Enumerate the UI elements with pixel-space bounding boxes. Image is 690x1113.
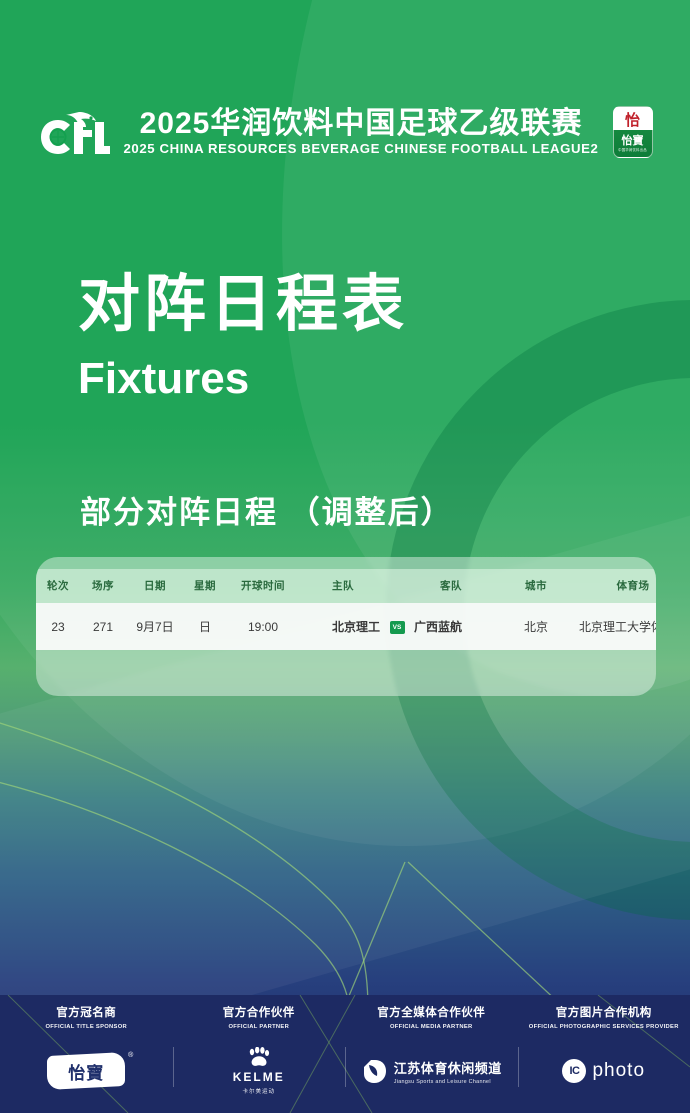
- cell-round: 23: [36, 603, 80, 650]
- column-header-weekday: 星期: [184, 569, 226, 603]
- yibao-badge-mark: 怡: [614, 107, 652, 131]
- paw-print-icon: [246, 1047, 272, 1067]
- jiangsu-mark-icon: [361, 1058, 387, 1084]
- sponsor-label-en: OFFICIAL MEDIA PARTNER: [390, 1024, 473, 1030]
- column-header-home: 主队: [300, 569, 386, 603]
- page-title-en: Fixtures: [78, 355, 638, 403]
- cell-away-team: 广西蓝航: [408, 603, 494, 650]
- ic-photo-logo-text: photo: [592, 1060, 645, 1082]
- page-title-cn: 对阵日程表: [78, 272, 638, 337]
- sponsor-footer: 官方冠名商 OFFICIAL TITLE SPONSOR 怡寶 ® 官方合作伙伴…: [0, 995, 690, 1113]
- cell-city: 北京: [494, 603, 578, 650]
- column-header-kickoff: 开球时间: [226, 569, 300, 603]
- kelme-logo-icon: KELME 卡尔美运动: [233, 1047, 285, 1095]
- cell-vs: VS: [386, 603, 408, 650]
- yibao-badge-icon: 怡 怡寶 中国华润饮料出品: [613, 106, 653, 158]
- hero-block: 对阵日程表 Fixtures: [78, 272, 638, 403]
- column-header-away: 客队: [408, 569, 494, 603]
- vs-badge-icon: VS: [390, 621, 405, 634]
- league-header: 2025华润饮料中国足球乙级联赛 2025 CHINA RESOURCES BE…: [0, 96, 690, 168]
- column-header-venue: 体育场: [578, 569, 656, 603]
- column-header-city: 城市: [494, 569, 578, 603]
- cell-date: 9月7日: [126, 603, 184, 650]
- kelme-logo-text: KELME: [233, 1070, 285, 1084]
- fixtures-poster: 2025华润饮料中国足球乙级联赛 2025 CHINA RESOURCES BE…: [0, 0, 690, 1113]
- yibao-badge-sub: 中国华润饮料出品: [618, 149, 647, 152]
- fixtures-card: 轮次 场序 日期 星期 开球时间 主队 客队 城市 体育场 23: [36, 557, 656, 696]
- table-row[interactable]: 23 271 9月7日 日 19:00 北京理工 VS 广西蓝航 北京 北京理工…: [36, 603, 656, 650]
- yibao-badge-name: 怡寶: [622, 136, 644, 147]
- jiangsu-logo-icon: 江苏体育休闲频道 Jiangsu Sports and Leisure Chan…: [361, 1058, 502, 1085]
- sponsor-media-partner: 官方全媒体合作伙伴 OFFICIAL MEDIA PARTNER 江苏体育休闲频…: [345, 995, 518, 1113]
- sponsor-label-cn: 官方冠名商: [56, 1007, 116, 1021]
- column-header-spacer: [386, 569, 408, 603]
- league-title-cn: 2025华润饮料中国足球乙级联赛: [140, 109, 583, 139]
- sponsor-label-cn: 官方合作伙伴: [223, 1007, 295, 1021]
- kelme-logo-sub: 卡尔美运动: [242, 1087, 275, 1095]
- yibao-logo-icon: 怡寶 ®: [47, 1054, 125, 1088]
- sponsor-photo-provider: 官方图片合作机构 OFFICIAL PHOTOGRAPHIC SERVICES …: [518, 995, 690, 1113]
- yibao-registered-mark: ®: [128, 1052, 133, 1059]
- cell-seq: 271: [80, 603, 126, 650]
- cell-venue: 北京理工大学体育场: [578, 603, 656, 650]
- sponsor-label-cn: 官方全媒体合作伙伴: [377, 1007, 485, 1021]
- table-header-row: 轮次 场序 日期 星期 开球时间 主队 客队 城市 体育场: [36, 569, 656, 603]
- fixtures-table: 轮次 场序 日期 星期 开球时间 主队 客队 城市 体育场 23: [36, 569, 656, 650]
- sponsor-label-en: OFFICIAL TITLE SPONSOR: [45, 1024, 127, 1030]
- cell-kickoff: 19:00: [226, 603, 300, 650]
- jiangsu-logo-text: 江苏体育休闲频道: [394, 1058, 502, 1077]
- cfl-logo-icon: [38, 106, 110, 158]
- yibao-logo-text: 怡寶: [68, 1059, 104, 1084]
- column-header-round: 轮次: [36, 569, 80, 603]
- sponsor-title-sponsor: 官方冠名商 OFFICIAL TITLE SPONSOR 怡寶 ®: [0, 995, 173, 1113]
- ic-photo-logo-icon: IC photo: [562, 1059, 645, 1083]
- league-title-block: 2025华润饮料中国足球乙级联赛 2025 CHINA RESOURCES BE…: [124, 109, 599, 155]
- cell-home-team: 北京理工: [300, 603, 386, 650]
- jiangsu-logo-sub: Jiangsu Sports and Leisure Channel: [394, 1079, 502, 1085]
- sponsor-label-cn: 官方图片合作机构: [556, 1007, 652, 1021]
- sponsor-official-partner: 官方合作伙伴 OFFICIAL PARTNER KELME 卡尔美运动: [173, 995, 346, 1113]
- ic-mark: IC: [562, 1059, 586, 1083]
- cell-weekday: 日: [184, 603, 226, 650]
- column-header-seq: 场序: [80, 569, 126, 603]
- sponsor-label-en: OFFICIAL PARTNER: [228, 1024, 289, 1030]
- league-title-en: 2025 CHINA RESOURCES BEVERAGE CHINESE FO…: [124, 142, 599, 155]
- column-header-date: 日期: [126, 569, 184, 603]
- page-subtitle: 部分对阵日程 （调整后）: [80, 487, 454, 532]
- sponsor-label-en: OFFICIAL PHOTOGRAPHIC SERVICES PROVIDER: [529, 1024, 679, 1030]
